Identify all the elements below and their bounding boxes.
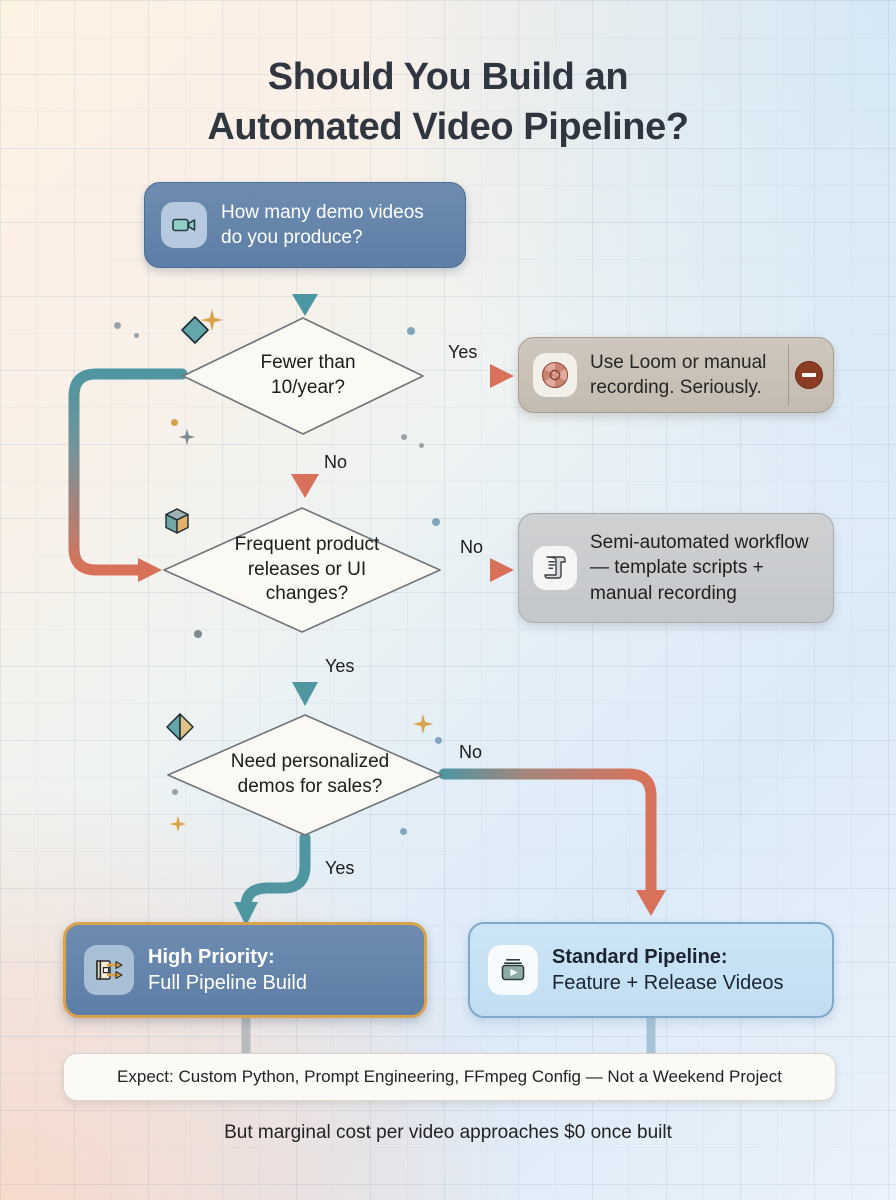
node-start-text: How many demo videos do you produce? xyxy=(221,200,449,250)
title-line-1: Should You Build an xyxy=(268,56,628,98)
decor-dot xyxy=(171,419,178,426)
no-entry-badge xyxy=(795,361,823,389)
node-standard-pipeline-outcome[interactable]: Standard Pipeline: Feature + Release Vid… xyxy=(468,922,834,1018)
node-loom-divider xyxy=(788,344,789,406)
edge-label-d3-yes: Yes xyxy=(325,858,354,879)
node-decision-1[interactable]: Fewer than 10/year? xyxy=(180,315,426,437)
page-title: Should You Build an Automated Video Pipe… xyxy=(0,52,896,152)
decision-2-line-1: Frequent product xyxy=(235,534,380,555)
edge-label-d3-no: No xyxy=(459,742,482,763)
video-camera-icon xyxy=(161,202,207,248)
title-line-2: Automated Video Pipeline? xyxy=(0,102,896,152)
standard-heading: Standard Pipeline: xyxy=(552,946,728,968)
standard-sub: Feature + Release Videos xyxy=(552,970,783,996)
node-decision-1-text: Fewer than 10/year? xyxy=(260,351,355,400)
node-loom-outcome[interactable]: Use Loom or manual recording. Seriously. xyxy=(518,337,834,413)
node-standard-pipeline-text: Standard Pipeline: Feature + Release Vid… xyxy=(552,944,783,997)
decision-3-line-2: demos for sales? xyxy=(238,776,383,797)
decor-dot xyxy=(134,333,139,338)
node-high-priority-outcome[interactable]: High Priority: Full Pipeline Build xyxy=(63,922,427,1018)
node-start-question[interactable]: How many demo videos do you produce? xyxy=(144,182,466,268)
high-priority-heading: High Priority: xyxy=(148,946,275,968)
high-priority-sub: Full Pipeline Build xyxy=(148,970,307,996)
node-decision-3-text: Need personalized demos for sales? xyxy=(231,750,389,799)
decor-dot xyxy=(419,443,424,448)
decor-dot xyxy=(114,322,121,329)
edge-label-d1-no: No xyxy=(324,452,347,473)
scroll-document-icon xyxy=(533,546,577,590)
decision-1-line-2: 10/year? xyxy=(271,377,345,398)
branching-arrows-icon xyxy=(84,945,134,995)
edge-label-d2-no: No xyxy=(460,537,483,558)
node-loom-text: Use Loom or manual recording. Seriously. xyxy=(590,350,819,400)
video-play-icon xyxy=(488,945,538,995)
footer-note-text: Expect: Custom Python, Prompt Engineerin… xyxy=(117,1067,782,1087)
node-decision-3[interactable]: Need personalized demos for sales? xyxy=(165,712,445,838)
edge-label-d2-yes: Yes xyxy=(325,656,354,677)
decision-2-line-3: changes? xyxy=(266,583,348,604)
node-decision-2[interactable]: Frequent product releases or UI changes? xyxy=(161,505,443,635)
edge-label-d1-yes: Yes xyxy=(448,342,477,363)
node-semi-automated-outcome[interactable]: Semi-automated workflow — template scrip… xyxy=(518,513,834,623)
node-semi-text: Semi-automated workflow — template scrip… xyxy=(590,530,819,605)
decision-1-line-1: Fewer than xyxy=(260,352,355,373)
footer-caption: But marginal cost per video approaches $… xyxy=(0,1122,896,1144)
node-high-priority-text: High Priority: Full Pipeline Build xyxy=(148,944,307,997)
decision-2-line-2: releases or UI xyxy=(248,559,366,580)
node-decision-2-text: Frequent product releases or UI changes? xyxy=(235,533,380,607)
footer-note-pill: Expect: Custom Python, Prompt Engineerin… xyxy=(63,1053,836,1101)
decision-3-line-1: Need personalized xyxy=(231,751,389,772)
aperture-icon xyxy=(533,353,577,397)
